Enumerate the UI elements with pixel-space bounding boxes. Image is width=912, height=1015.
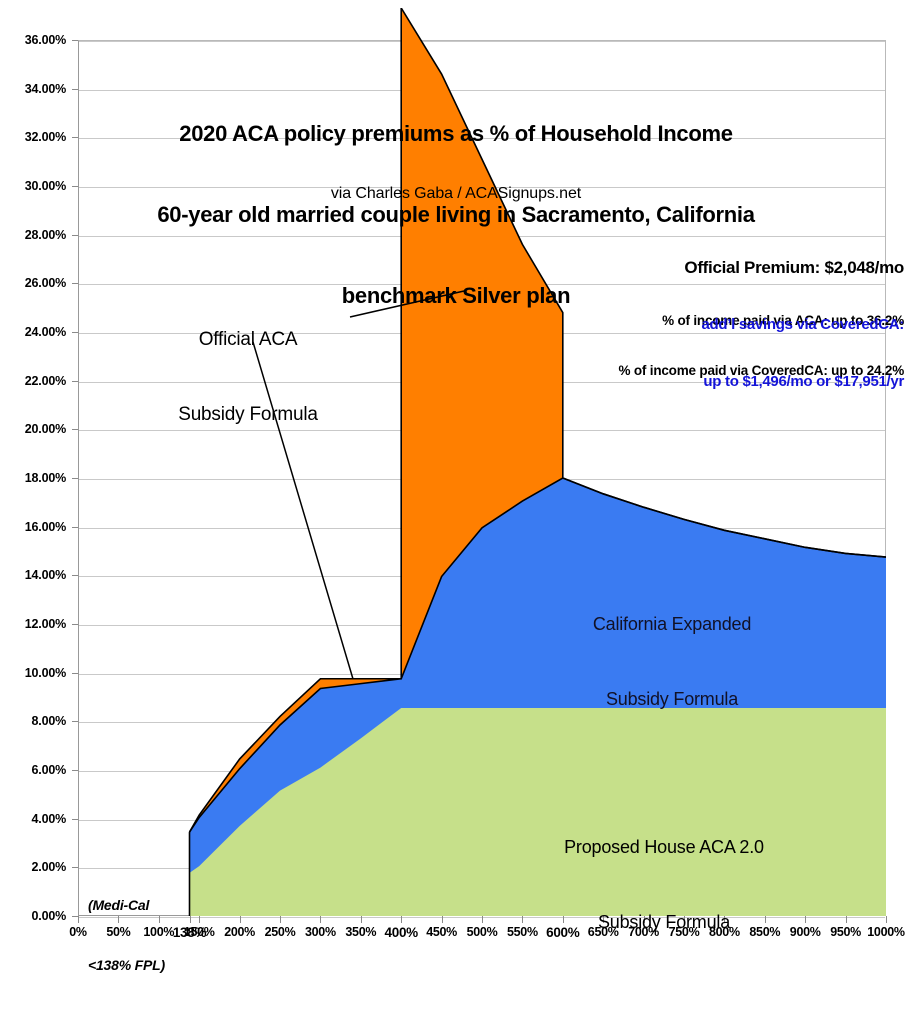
- x-axis-tick-label: 300%: [305, 925, 336, 939]
- x-axis-tick: [765, 916, 766, 923]
- x-axis-tick: [361, 916, 362, 923]
- official-aca-label-line-1: Official ACA: [148, 327, 348, 352]
- medicaid-note: (Medi-Cal <138% FPL): [88, 855, 165, 1015]
- savings-annotation: add’l savings via CoveredCA: up to $1,49…: [701, 277, 904, 429]
- x-axis-tick: [240, 916, 241, 923]
- x-axis-tick: [280, 916, 281, 923]
- premium-amount-label: Official Premium: $2,048/mo: [619, 257, 904, 279]
- x-axis-tick: [78, 916, 79, 923]
- official-aca-label-line-2: Subsidy Formula: [148, 402, 348, 427]
- chart-byline: via Charles Gaba / ACASignups.net: [331, 185, 581, 203]
- chart-title-line-1: 2020 ACA policy premiums as % of Househo…: [157, 120, 754, 147]
- california-label-line-2: Subsidy Formula: [593, 687, 751, 712]
- x-axis-tick: [401, 916, 402, 923]
- x-axis-tick-label: 0%: [69, 925, 86, 939]
- savings-label-line-2: up to $1,496/mo or $17,951/yr: [701, 372, 904, 391]
- x-axis-tick-label: 150%: [184, 925, 215, 939]
- x-axis-tick: [886, 916, 887, 923]
- x-axis-tick: [805, 916, 806, 923]
- x-axis-tick: [190, 916, 191, 923]
- x-axis-tick-label: 450%: [426, 925, 457, 939]
- x-axis-tick: [846, 916, 847, 923]
- x-axis-tick-label: 350%: [345, 925, 376, 939]
- x-axis-tick-label: 500%: [467, 925, 498, 939]
- x-axis-tick: [482, 916, 483, 923]
- chart-canvas: 0.00%2.00%4.00%6.00%8.00%10.00%12.00%14.…: [0, 0, 912, 950]
- medicaid-note-line-1: (Medi-Cal: [88, 895, 165, 915]
- california-expanded-series-label: California Expanded Subsidy Formula: [593, 562, 751, 762]
- house-label-line-2: Subsidy Formula: [564, 910, 764, 935]
- x-axis-tick-label: 400%: [385, 925, 418, 940]
- x-axis-tick-label: 200%: [224, 925, 255, 939]
- x-axis-tick: [522, 916, 523, 923]
- x-axis-tick-label: 1000%: [867, 925, 904, 939]
- official-aca-series-label: Official ACA Subsidy Formula: [148, 277, 348, 477]
- x-axis-tick-label: 950%: [830, 925, 861, 939]
- x-axis-tick: [320, 916, 321, 923]
- x-axis-tick-label: 900%: [790, 925, 821, 939]
- medicaid-note-line-2: <138% FPL): [88, 955, 165, 975]
- house-label-line-1: Proposed House ACA 2.0: [564, 835, 764, 860]
- california-label-line-1: California Expanded: [593, 612, 751, 637]
- house-aca2-series-label: Proposed House ACA 2.0 Subsidy Formula: [564, 785, 764, 985]
- x-axis-tick-label: 550%: [507, 925, 538, 939]
- savings-label-line-1: add’l savings via CoveredCA:: [701, 315, 904, 334]
- x-axis-tick: [199, 916, 200, 923]
- x-axis-tick-label: 250%: [265, 925, 296, 939]
- x-axis-tick: [442, 916, 443, 923]
